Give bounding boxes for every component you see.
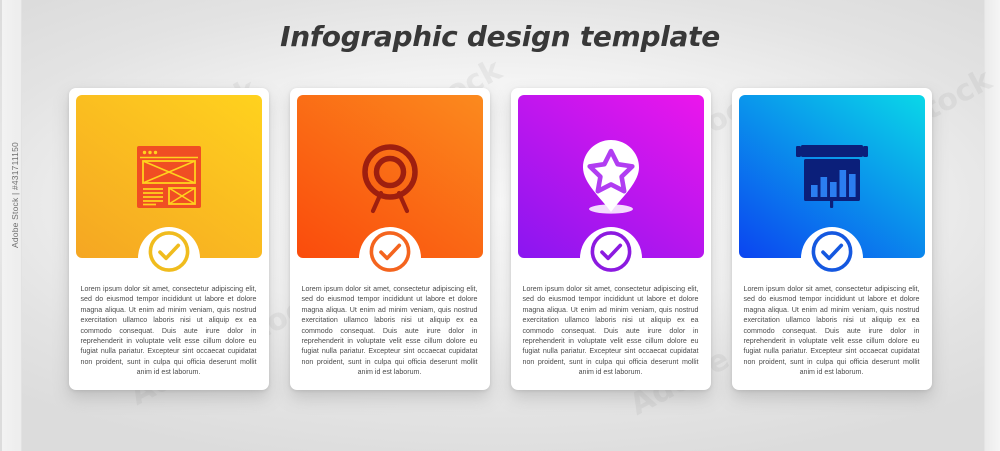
web-wireframe-layout-icon-svg <box>134 142 204 212</box>
presentation-bar-chart-board-icon-svg <box>794 144 870 210</box>
infographic-card[interactable]: Lorem ipsum dolor sit amet, consectetur … <box>511 88 711 390</box>
check-circle-icon[interactable] <box>587 228 634 275</box>
check-circle-icon-svg <box>809 229 854 274</box>
check-circle-icon[interactable] <box>366 228 413 275</box>
card-body-text: Lorem ipsum dolor sit amet, consectetur … <box>302 284 478 378</box>
card-body-text: Lorem ipsum dolor sit amet, consectetur … <box>744 284 920 378</box>
check-circle-icon[interactable] <box>808 228 855 275</box>
map-pin-star-icon-svg <box>579 138 643 216</box>
card-body-text: Lorem ipsum dolor sit amet, consectetur … <box>523 284 699 378</box>
check-circle-icon[interactable] <box>145 228 192 275</box>
card-body-text: Lorem ipsum dolor sit amet, consectetur … <box>81 284 257 378</box>
card-row: Lorem ipsum dolor sit amet, consectetur … <box>0 88 1000 390</box>
infographic-card[interactable]: Lorem ipsum dolor sit amet, consectetur … <box>732 88 932 390</box>
infographic-card[interactable]: Lorem ipsum dolor sit amet, consectetur … <box>69 88 269 390</box>
page-title: Infographic design template <box>0 20 1000 53</box>
check-circle-icon-svg <box>588 229 633 274</box>
check-circle-icon-svg <box>367 229 412 274</box>
check-circle-icon-svg <box>146 229 191 274</box>
target-archery-board-icon-svg <box>355 140 425 214</box>
infographic-card[interactable]: Lorem ipsum dolor sit amet, consectetur … <box>290 88 490 390</box>
